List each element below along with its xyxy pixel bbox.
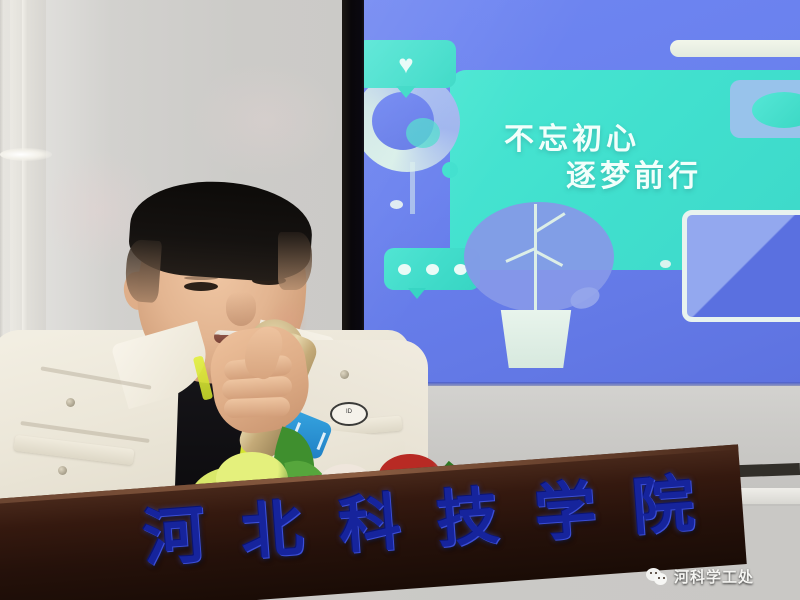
wechat-dot — [663, 577, 665, 579]
jacket-badge: ID — [330, 402, 368, 426]
watermark-account-name: 河科学工处 — [674, 566, 754, 587]
watermark: 河科学工处 — [646, 566, 754, 587]
jacket-badge-label: ID — [332, 404, 366, 420]
wechat-dot — [658, 577, 660, 579]
projection-screen: ♥ 不忘初心 逐梦前行 — [364, 0, 800, 386]
podium-char: 技 — [434, 485, 500, 551]
podium-char: 科 — [337, 491, 403, 557]
hair-fade-right — [278, 232, 312, 290]
wall-color-tint — [190, 60, 340, 180]
podium-char: 学 — [532, 479, 598, 545]
hair-fade-left — [124, 239, 162, 303]
eye-left — [184, 282, 218, 291]
podium-char: 北 — [239, 498, 305, 564]
podium-char: 院 — [630, 473, 696, 539]
jacket-button — [58, 466, 67, 475]
screenshot-root: ♥ 不忘初心 逐梦前行 — [0, 0, 800, 600]
nose — [226, 292, 256, 326]
podium-char: 河 — [141, 504, 207, 570]
finger — [224, 397, 291, 418]
wechat-dot — [655, 572, 657, 574]
wechat-dot — [650, 572, 652, 574]
jacket-button — [66, 398, 75, 407]
wechat-icon — [646, 568, 668, 586]
jacket-button — [340, 370, 349, 379]
screen-glare — [364, 0, 800, 386]
wechat-bubble-small — [654, 573, 667, 585]
